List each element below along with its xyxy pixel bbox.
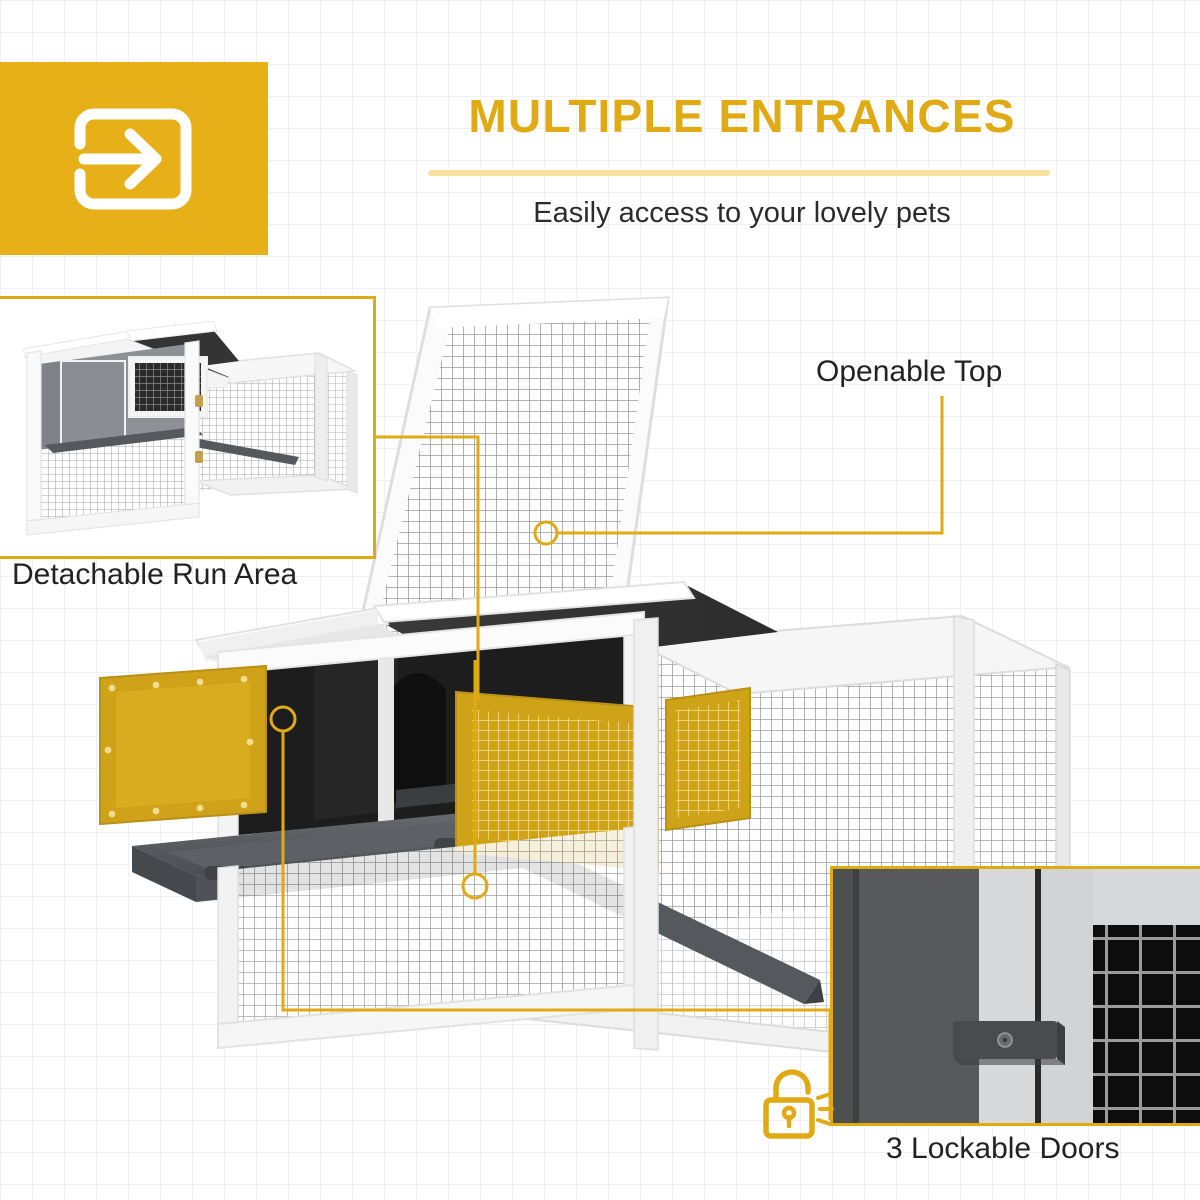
callout-label-openable-top: Openable Top [816, 355, 1002, 389]
enter-arrow-icon-badge [0, 62, 268, 255]
centre-post [634, 618, 658, 1050]
page-title: MULTIPLE ENTRANCES [426, 92, 1058, 140]
inset-run-area-image [0, 299, 373, 556]
page-subtitle: Easily access to your lovely pets [426, 197, 1058, 230]
right-mesh-door-highlight [666, 688, 750, 830]
inset-lockable-doors [830, 866, 1200, 1126]
infographic-canvas: MULTIPLE ENTRANCES Easily access to your… [0, 0, 1200, 1200]
left-side-door-highlight [100, 666, 266, 824]
caption-lockable-doors: 3 Lockable Doors [886, 1132, 1119, 1166]
inset-lock-closeup-image [833, 869, 1200, 1123]
enter-arrow-icon [68, 100, 200, 218]
title-divider [428, 170, 1050, 176]
inset-detachable-run-area [0, 296, 376, 559]
caption-detachable-run-area: Detachable Run Area [12, 558, 297, 592]
padlock-open-icon [758, 1064, 834, 1144]
